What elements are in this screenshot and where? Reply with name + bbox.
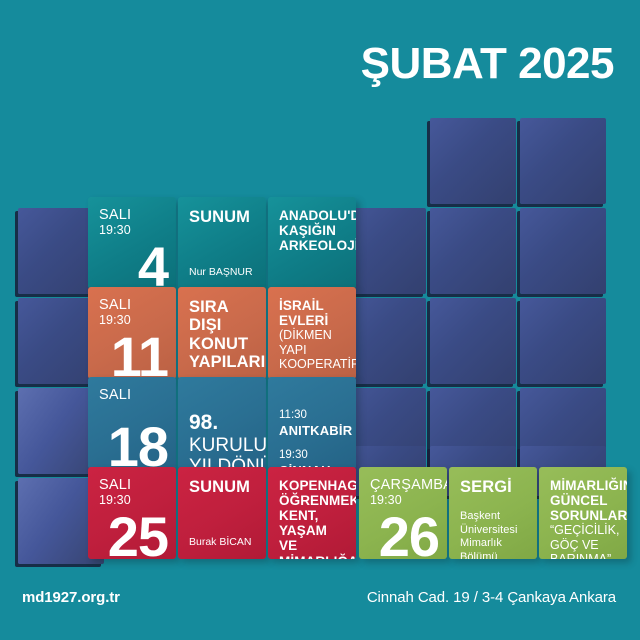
event-day-number: 11 xyxy=(111,329,168,379)
event-topic-subtitle: “GEÇİCİLİK, GÖÇ VE BARINMA” xyxy=(550,523,618,559)
event-topic-cell-feb-26[interactable]: MİMARLIĞIN GÜNCEL SORUNLARI: “GEÇİCİLİK,… xyxy=(539,467,627,559)
event-day-number: 18 xyxy=(108,419,168,469)
poster-canvas: ŞUBAT 2025 SALI 19:30 4 SUNUM Nur BAŞNUR… xyxy=(0,0,640,640)
event-heading: SUNUM xyxy=(189,208,257,226)
event-day-number: 26 xyxy=(379,509,439,559)
decor-block xyxy=(430,208,516,294)
event-day-name: SALI xyxy=(99,208,167,223)
event-topic-cell-feb-25[interactable]: KOPENHAG'DAN ÖĞRENMEK: KENT, YAŞAM VE Mİ… xyxy=(268,467,356,559)
spacer xyxy=(279,438,347,449)
event-title-cell-feb-18[interactable]: 98. KURULUŞ YILDÖNÜMÜ xyxy=(178,377,266,469)
decor-block xyxy=(520,118,606,204)
event-title-cell-feb-26[interactable]: SERGİ Başkent Üniversitesi Mimarlık Bölü… xyxy=(449,467,537,559)
page-title: ŞUBAT 2025 xyxy=(361,42,614,86)
event-heading: SUNUM xyxy=(189,478,257,496)
event-topic-cell-feb-04[interactable]: ANADOLU'DA KAŞIĞIN ARKEOLOJİSİ xyxy=(268,197,356,289)
event-day-name: SALI xyxy=(99,388,167,403)
event-speaker: Burak BİCAN xyxy=(189,536,251,549)
schedule-time-2: 19:30 xyxy=(279,449,347,463)
event-day-cell-feb-25[interactable]: SALI 19:30 25 xyxy=(88,467,176,559)
decor-block xyxy=(520,298,606,384)
event-day-name: ÇARŞAMBA xyxy=(370,478,438,493)
event-topic-title: İSRAİL EVLERİ xyxy=(279,298,347,328)
event-topic-subtitle: (DİKMEN YAPI KOOPERATİFİ) xyxy=(279,328,347,371)
decor-block xyxy=(430,118,516,204)
event-day-number: 4 xyxy=(138,239,168,289)
event-details: Başkent Üniversitesi Mimarlık Bölümü Atö… xyxy=(460,510,528,559)
event-title-cell-feb-04[interactable]: SUNUM Nur BAŞNUR xyxy=(178,197,266,289)
decor-block xyxy=(430,298,516,384)
event-topic-title: MİMARLIĞIN GÜNCEL SORUNLARI: xyxy=(550,478,618,523)
event-heading-number: 98. xyxy=(189,411,257,435)
event-title-cell-feb-11[interactable]: SIRA DIŞI KONUT YAPILARI Moderatör: T. E… xyxy=(178,287,266,379)
event-speaker: Nur BAŞNUR xyxy=(189,266,253,279)
event-day-cell-feb-04[interactable]: SALI 19:30 4 xyxy=(88,197,176,289)
event-topic-cell-feb-11[interactable]: İSRAİL EVLERİ (DİKMEN YAPI KOOPERATİFİ) … xyxy=(268,287,356,379)
event-topic-title: ANADOLU'DA KAŞIĞIN ARKEOLOJİSİ xyxy=(279,208,347,253)
event-title-cell-feb-25[interactable]: SUNUM Burak BİCAN xyxy=(178,467,266,559)
schedule-time-1: 11:30 xyxy=(279,409,347,423)
event-day-cell-feb-18[interactable]: SALI 18 xyxy=(88,377,176,469)
event-schedule-cell-feb-18[interactable]: 11:30 ANITKABİR 19:30 CİNNAH 19 xyxy=(268,377,356,469)
event-day-name: SALI xyxy=(99,298,167,313)
event-day-number: 25 xyxy=(108,509,168,559)
address-text: Cinnah Cad. 19 / 3-4 Çankaya Ankara xyxy=(367,589,616,606)
event-heading-text: KURULUŞ YILDÖNÜMÜ xyxy=(189,435,257,469)
event-day-name: SALI xyxy=(99,478,167,493)
event-topic-title: KOPENHAG'DAN ÖĞRENMEK: KENT, YAŞAM VE Mİ… xyxy=(279,478,347,559)
event-day-cell-feb-11[interactable]: SALI 19:30 11 xyxy=(88,287,176,379)
schedule-place-1: ANITKABİR xyxy=(279,423,347,439)
decor-block xyxy=(520,208,606,294)
website-link[interactable]: md1927.org.tr xyxy=(22,589,120,606)
event-heading: SERGİ xyxy=(460,478,528,496)
event-heading: SIRA DIŞI KONUT YAPILARI xyxy=(189,298,257,372)
event-day-cell-feb-26[interactable]: ÇARŞAMBA 19:30 26 xyxy=(359,467,447,559)
